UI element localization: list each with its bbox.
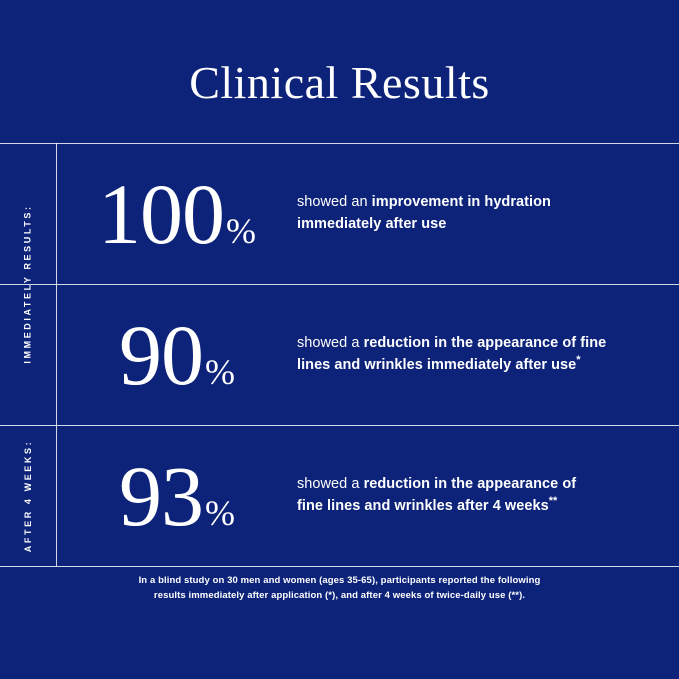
study-footnote-line1: In a blind study on 30 men and women (ag… <box>0 574 679 589</box>
study-footnote: In a blind study on 30 men and women (ag… <box>0 574 679 603</box>
stat-percent-symbol: % <box>205 354 235 390</box>
stat-footnote-marker: ** <box>549 495 558 507</box>
stat-description-lead: showed an <box>297 194 372 210</box>
stat-number: 100 <box>98 171 224 257</box>
clinical-results-panel: Clinical Results IMMEDIATELY RESULTS: AF… <box>0 0 679 679</box>
stat-description-emphasis-line1: reduction in the appearance of fine <box>364 335 607 351</box>
stat-percent-symbol: % <box>205 495 235 531</box>
stat-row: 100 % showed an improvement in hydration… <box>57 144 679 284</box>
stat-description-emphasis-line1: reduction in the appearance of <box>364 476 577 492</box>
stat-value-group: 90 % <box>57 312 297 398</box>
stat-description-lead: showed a <box>297 335 364 351</box>
stat-description-emphasis-line2: fine lines and wrinkles after 4 weeks <box>297 498 549 514</box>
stat-footnote-marker: * <box>576 354 580 366</box>
stat-description-emphasis-line2: lines and wrinkles immediately after use <box>297 357 576 373</box>
stat-description-emphasis-line2: immediately after use <box>297 216 446 232</box>
side-label-after-4-weeks-text: AFTER 4 WEEKS: <box>23 440 33 552</box>
stat-number: 90 <box>119 312 203 398</box>
stat-value-group: 100 % <box>57 171 297 257</box>
stat-row: 93 % showed a reduction in the appearanc… <box>57 426 679 566</box>
stat-description-emphasis-line1: improvement in hydration <box>372 194 551 210</box>
stat-description: showed a reduction in the appearance of … <box>297 333 679 377</box>
page-title: Clinical Results <box>0 60 679 106</box>
stat-number: 93 <box>119 453 203 539</box>
side-label-immediate-results: IMMEDIATELY RESULTS: <box>0 143 56 425</box>
stat-value-group: 93 % <box>57 453 297 539</box>
stat-percent-symbol: % <box>226 213 256 249</box>
side-label-after-4-weeks: AFTER 4 WEEKS: <box>0 426 56 566</box>
stat-row: 90 % showed a reduction in the appearanc… <box>57 285 679 425</box>
study-footnote-line2: results immediately after application (*… <box>0 589 679 604</box>
grid-bottom-divider <box>0 566 679 567</box>
stat-description: showed an improvement in hydration immed… <box>297 192 679 236</box>
stat-description: showed a reduction in the appearance of … <box>297 474 679 518</box>
side-label-immediate-results-text: IMMEDIATELY RESULTS: <box>23 204 33 363</box>
stat-description-lead: showed a <box>297 476 364 492</box>
